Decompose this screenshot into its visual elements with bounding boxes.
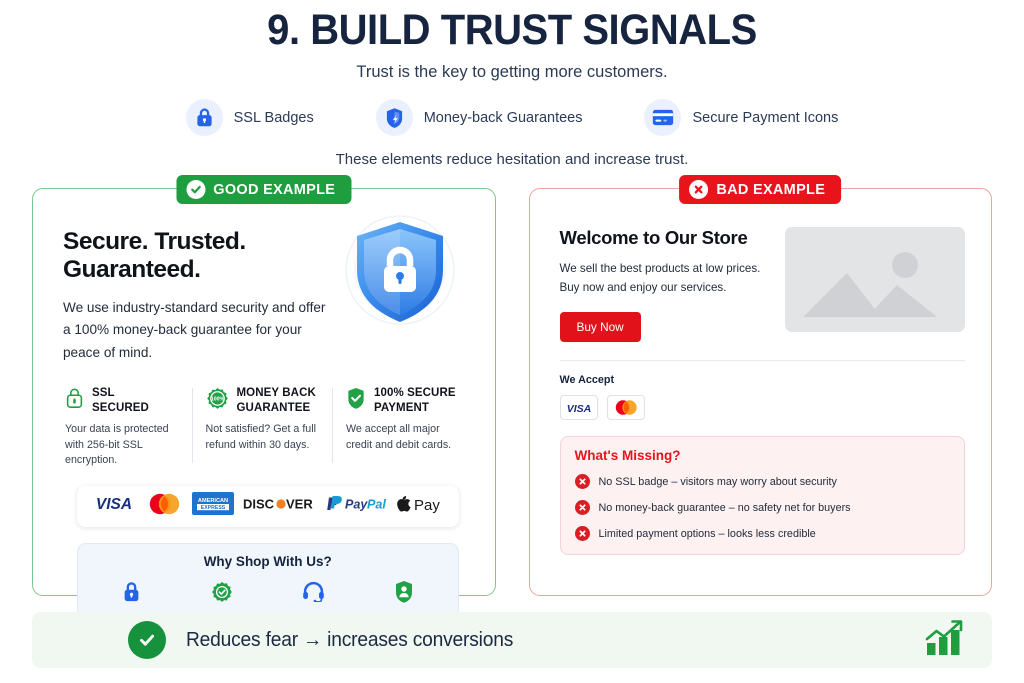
apple-pay-logo: Pay — [396, 494, 444, 518]
padlock-outline-icon — [65, 387, 84, 414]
x-circle-icon — [575, 500, 590, 515]
x-circle-icon — [575, 474, 590, 489]
header-note: These elements reduce hesitation and inc… — [0, 151, 1024, 168]
header-item-ssl-badges: SSL Badges — [186, 99, 314, 136]
svg-text:VISA: VISA — [566, 403, 591, 414]
missing-item: Limited payment options – looks less cre… — [575, 526, 951, 541]
bad-example-badge: BAD EXAMPLE — [679, 175, 841, 204]
good-heading: Secure. Trusted. Guaranteed. — [63, 228, 329, 284]
money-back-seal-icon: 100% — [206, 387, 229, 415]
check-circle-icon — [186, 180, 205, 199]
headset-icon — [268, 579, 359, 605]
good-example-badge-label: GOOD EXAMPLE — [213, 182, 335, 198]
trust-badge-money-back: 100% MONEY BACK GUARANTEE Not satisfied?… — [190, 386, 331, 468]
trust-badge-title: 100% SECURE PAYMENT — [374, 386, 456, 415]
why-shop-title: Why Shop With Us? — [86, 554, 450, 569]
header-item-label: Secure Payment Icons — [692, 110, 838, 126]
lock-icon — [86, 579, 177, 605]
payment-logos-strip: VISA AMERICAN — [77, 486, 459, 527]
paypal-logo: Pay Pal — [325, 495, 387, 517]
bad-paragraph: We sell the best products at low prices.… — [560, 260, 770, 297]
x-circle-icon — [575, 526, 590, 541]
x-circle-icon — [689, 180, 708, 199]
we-accept-title: We Accept — [560, 374, 966, 386]
svg-text:Pay: Pay — [345, 497, 368, 511]
good-hero-text: Secure. Trusted. Guaranteed. We use indu… — [63, 224, 329, 364]
amex-logo: AMERICAN EXPRESS — [192, 491, 234, 521]
lock-icon — [186, 99, 223, 136]
divider — [560, 360, 966, 361]
check-circle-icon — [128, 621, 166, 659]
infographic-page: 9. BUILD TRUST SIGNALS Trust is the key … — [0, 0, 1024, 683]
visa-logo: VISA — [92, 495, 136, 517]
bad-hero: Welcome to Our Store We sell the best pr… — [560, 225, 966, 342]
trust-badge-ssl: SSL SECURED Your data is protected with … — [65, 386, 190, 468]
trust-badge-desc: Your data is protected with 256-bit SSL … — [65, 422, 180, 469]
svg-text:Pal: Pal — [367, 497, 386, 511]
good-example-panel: GOOD EXAMPLE Secure. Trusted. Guaranteed… — [32, 188, 496, 596]
shield-person-icon — [359, 579, 450, 605]
good-panel-body: Secure. Trusted. Guaranteed. We use indu… — [33, 189, 495, 653]
visa-logo: VISA — [560, 395, 598, 420]
whats-missing-box: What's Missing? No SSL badge – visitors … — [560, 436, 966, 555]
footer-left: Reduces fear → increases conversions — [128, 621, 527, 659]
missing-item-label: Limited payment options – looks less cre… — [599, 528, 816, 540]
header-item-label: SSL Badges — [234, 110, 314, 126]
svg-text:DISC: DISC — [243, 497, 275, 512]
svg-text:VISA: VISA — [96, 496, 132, 512]
credit-card-icon — [644, 99, 681, 136]
trust-badge-secure-payment: 100% SECURE PAYMENT We accept all major … — [330, 386, 471, 468]
shield-lock-icon — [329, 212, 471, 330]
whats-missing-title: What's Missing? — [575, 448, 951, 463]
trust-badges-row: SSL SECURED Your data is protected with … — [63, 386, 473, 468]
page-title: 9. BUILD TRUST SIGNALS — [36, 8, 988, 53]
header-item-secure-payment: Secure Payment Icons — [644, 99, 838, 136]
trust-badge-title: MONEY BACK GUARANTEE — [237, 386, 316, 415]
mastercard-logo — [607, 395, 645, 420]
bad-example-panel: BAD EXAMPLE Welcome to Our Store We sell… — [529, 188, 993, 596]
header: 9. BUILD TRUST SIGNALS Trust is the key … — [0, 0, 1024, 168]
missing-item-label: No SSL badge – visitors may worry about … — [599, 476, 837, 488]
trust-badge-title: SSL SECURED — [92, 386, 149, 415]
comparison-panels: GOOD EXAMPLE Secure. Trusted. Guaranteed… — [32, 188, 992, 596]
missing-item-label: No money-back guarantee – no safety net … — [599, 502, 851, 514]
bad-payment-logos: VISA — [560, 395, 966, 420]
bad-heading: Welcome to Our Store — [560, 227, 770, 249]
trust-badge-desc: Not satisfied? Get a full refund within … — [206, 422, 321, 453]
svg-text:Pay: Pay — [414, 497, 440, 513]
growth-chart-icon — [924, 619, 966, 662]
mastercard-logo — [145, 492, 183, 521]
shield-check-icon — [346, 387, 366, 414]
seal-check-icon — [177, 579, 268, 605]
page-subtitle: Trust is the key to getting more custome… — [0, 63, 1024, 82]
trust-badge-desc: We accept all major credit and debit car… — [346, 422, 461, 453]
svg-text:EXPRESS: EXPRESS — [201, 505, 226, 511]
missing-item: No SSL badge – visitors may worry about … — [575, 474, 951, 489]
svg-text:100%: 100% — [210, 396, 224, 402]
image-placeholder-icon — [785, 227, 965, 332]
svg-text:AMERICAN: AMERICAN — [198, 498, 228, 504]
missing-item: No money-back guarantee – no safety net … — [575, 500, 951, 515]
footer-text: Reduces fear → increases conversions — [186, 629, 513, 652]
good-example-badge: GOOD EXAMPLE — [176, 175, 351, 204]
header-icon-row: SSL Badges Money-back Guarantees — [0, 99, 1024, 136]
bad-example-badge-label: BAD EXAMPLE — [716, 182, 825, 198]
shield-icon — [376, 99, 413, 136]
good-paragraph: We use industry-standard security and of… — [63, 297, 329, 364]
buy-now-button[interactable]: Buy Now — [560, 312, 641, 342]
header-item-label: Money-back Guarantees — [424, 110, 583, 126]
footer-takeaway-bar: Reduces fear → increases conversions — [32, 612, 992, 668]
bad-hero-text: Welcome to Our Store We sell the best pr… — [560, 225, 770, 342]
discover-logo: DISC VER — [243, 496, 315, 516]
svg-text:VER: VER — [286, 497, 313, 512]
bad-panel-body: Welcome to Our Store We sell the best pr… — [530, 189, 992, 555]
header-item-money-back: Money-back Guarantees — [376, 99, 583, 136]
good-hero: Secure. Trusted. Guaranteed. We use indu… — [63, 224, 473, 364]
